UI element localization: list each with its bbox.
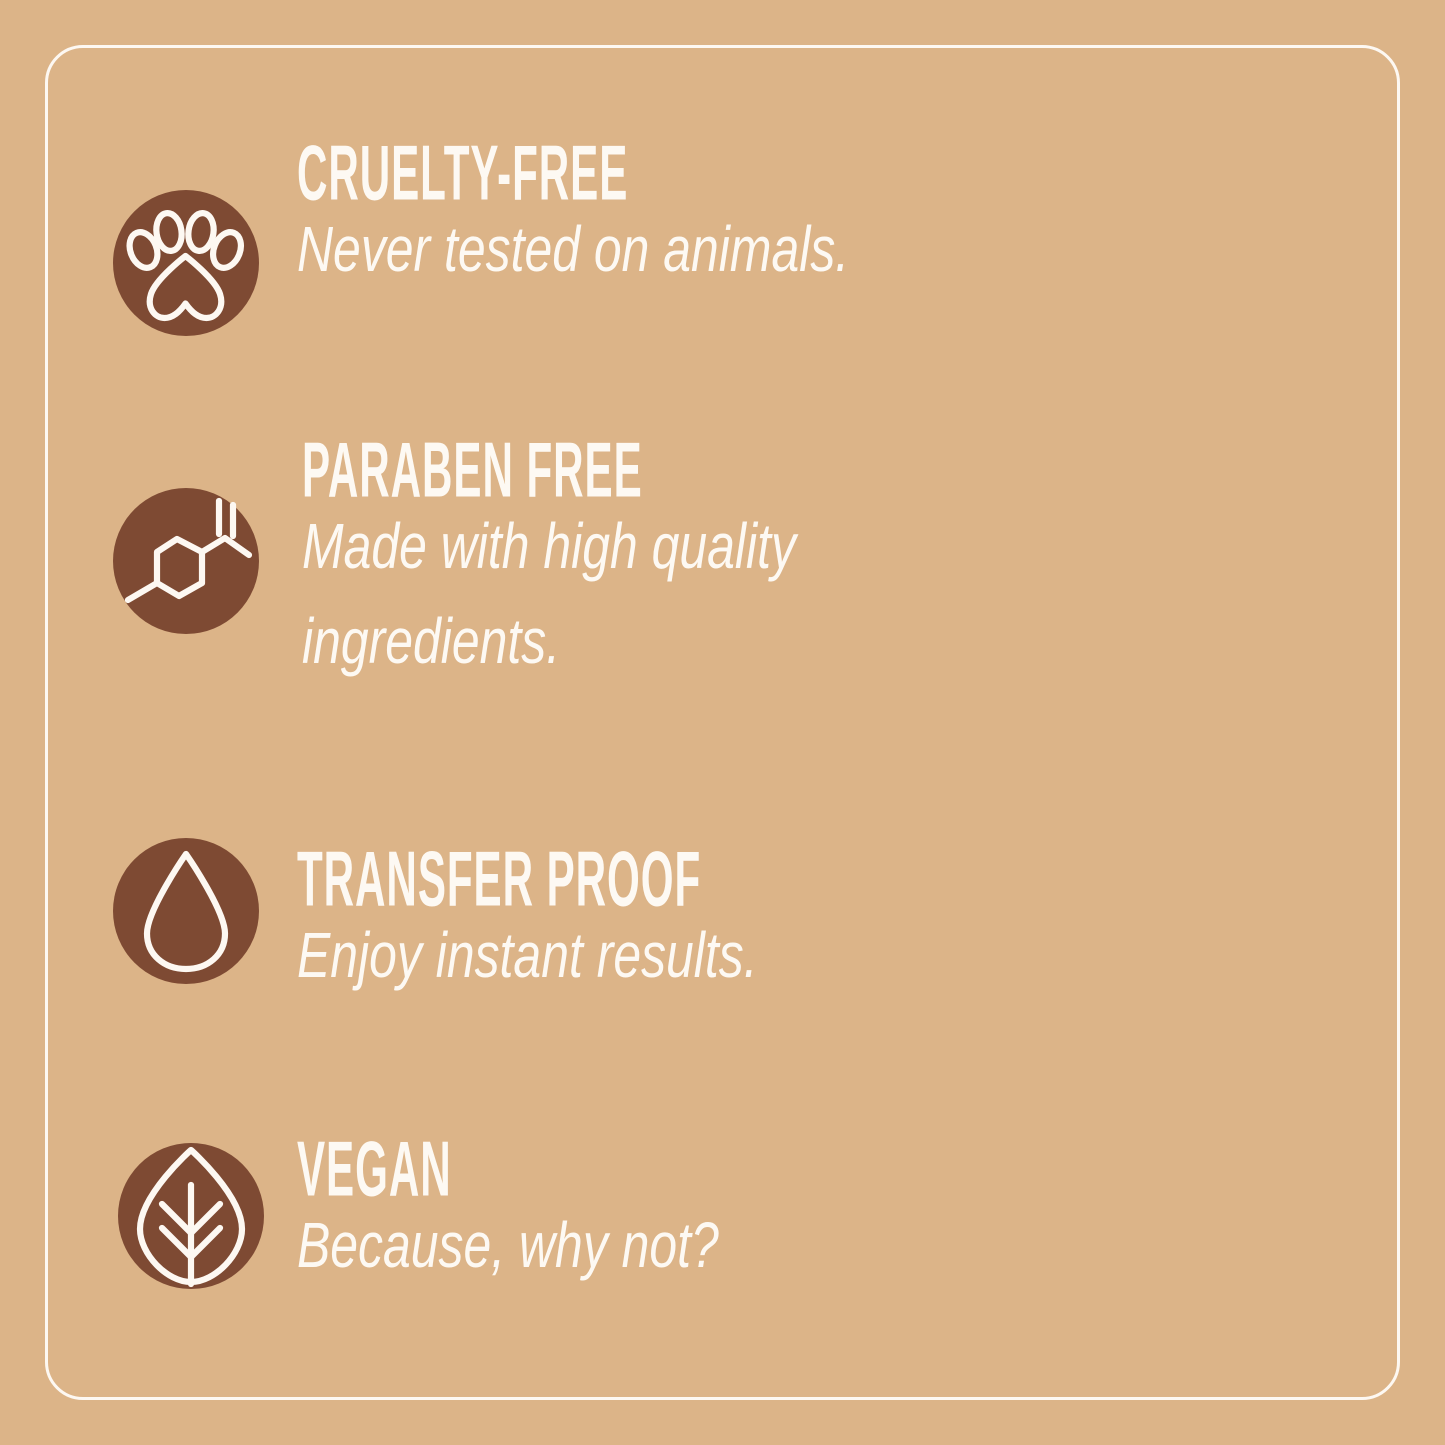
feature-title: PARABEN FREE	[302, 434, 773, 508]
feature-description: Enjoy instant results.	[297, 908, 1124, 1003]
description-line: Made with high quality	[302, 499, 895, 594]
feature-title: VEGAN	[297, 1133, 954, 1207]
feature-description: Never tested on animals.	[297, 202, 1124, 297]
description-line: Because, why not?	[297, 1198, 1124, 1293]
feature-text-transfer-proof: TRANSFER PROOF Enjoy instant results.	[297, 843, 1357, 1003]
feature-description: Made with high quality ingredients.	[302, 499, 895, 688]
molecule-icon	[113, 488, 259, 634]
leaf-icon	[118, 1143, 264, 1289]
feature-description: Because, why not?	[297, 1198, 1124, 1293]
paw-print-icon	[113, 190, 259, 336]
feature-text-paraben-free: PARABEN FREE Made with high quality ingr…	[302, 434, 1062, 689]
description-line: Never tested on animals.	[297, 202, 1124, 297]
feature-text-vegan: VEGAN Because, why not?	[297, 1133, 1357, 1293]
benefits-infographic: CRUELTY-FREE Never tested on animals. PA…	[0, 0, 1445, 1445]
description-line: Enjoy instant results.	[297, 908, 1124, 1003]
feature-title: CRUELTY-FREE	[297, 137, 954, 211]
droplet-icon	[113, 838, 259, 984]
description-line: ingredients.	[302, 594, 895, 689]
feature-text-cruelty-free: CRUELTY-FREE Never tested on animals.	[297, 137, 1357, 297]
feature-title: TRANSFER PROOF	[297, 843, 954, 917]
